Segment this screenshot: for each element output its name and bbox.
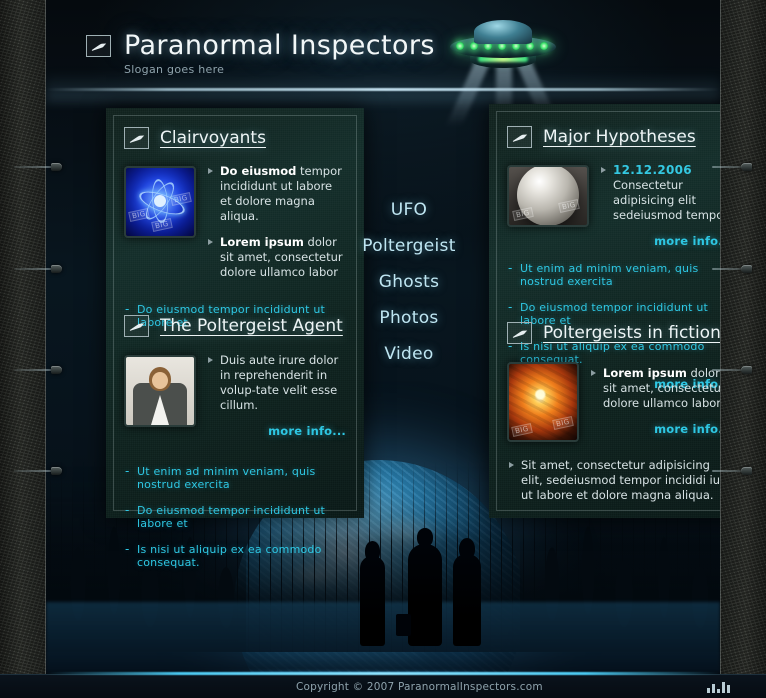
list-item: Lorem ipsum dolor sit amet, consectetur … bbox=[590, 366, 720, 411]
comet-icon bbox=[86, 35, 111, 57]
frame-bolt-left-2 bbox=[14, 265, 62, 273]
bullet-strong: Lorem ipsum bbox=[603, 366, 687, 380]
fire-explosion-thumbnail[interactable]: BIG BIG bbox=[507, 362, 579, 442]
section-heading-major-hypotheses[interactable]: Major Hypotheses bbox=[507, 126, 720, 148]
page-root: Paranormal Inspectors Slogan goes here bbox=[0, 0, 766, 698]
left-stone-frame bbox=[0, 0, 46, 698]
site-slogan: Slogan goes here bbox=[124, 63, 224, 76]
heading-text: Poltergeists in fiction bbox=[543, 323, 720, 343]
silhouette-woman-left bbox=[358, 541, 388, 646]
page-canvas: Paranormal Inspectors Slogan goes here bbox=[46, 0, 720, 698]
people-silhouettes bbox=[356, 521, 486, 646]
entry-text: Consectetur adipisicing elit sedeiusmod … bbox=[613, 178, 720, 222]
main-navigation: UFO Poltergeist Ghosts Photos Video bbox=[346, 200, 472, 364]
agent-dashlist: Ut enim ad minim veniam, quis nostrud ex… bbox=[124, 465, 346, 569]
comet-icon bbox=[507, 322, 532, 344]
list-item[interactable]: Ut enim ad minim veniam, quis nostrud ex… bbox=[124, 465, 346, 491]
right-frame-edge bbox=[720, 0, 721, 698]
hypotheses-bullets: 12.12.2006 Consectetur adipisicing elit … bbox=[600, 163, 720, 223]
blue-atom-thumbnail[interactable]: BIG BIG BIG bbox=[124, 166, 196, 238]
frame-bolt-right-3 bbox=[704, 366, 752, 374]
brand-lockup[interactable]: Paranormal Inspectors bbox=[86, 30, 435, 61]
hypotheses-row: BIG BIG 12.12.2006 Consectetur adipisici… bbox=[507, 165, 720, 248]
list-item: Duis aute irure dolor in reprehenderit i… bbox=[207, 353, 346, 413]
crystal-ball-thumbnail[interactable]: BIG BIG bbox=[507, 165, 589, 227]
fiction-row: BIG BIG Lorem ipsum dolor sit amet, cons… bbox=[507, 362, 720, 442]
section-heading-poltergeist-agent[interactable]: The Poltergeist Agent bbox=[124, 315, 346, 337]
nav-item-photos[interactable]: Photos bbox=[379, 308, 438, 328]
heading-text: Clairvoyants bbox=[160, 128, 266, 148]
section-heading-poltergeists-in-fiction[interactable]: Poltergeists in fiction bbox=[507, 322, 720, 344]
frame-bolt-right-2 bbox=[704, 265, 752, 273]
footer-glow-line bbox=[46, 672, 720, 675]
section-poltergeist-agent: The Poltergeist Agent Duis aute irure do… bbox=[124, 315, 346, 582]
signal-bars-icon bbox=[707, 681, 730, 693]
page-title: Paranormal Inspectors bbox=[124, 30, 435, 61]
list-item: 12.12.2006 Consectetur adipisicing elit … bbox=[600, 163, 720, 223]
agent-row: Duis aute irure dolor in reprehenderit i… bbox=[124, 355, 346, 438]
horizon-line bbox=[46, 88, 720, 91]
right-content-panel: Major Hypotheses BIG BIG 12.12.2006 Cons… bbox=[489, 104, 720, 518]
fiction-bullets: Lorem ipsum dolor sit amet, consectetur … bbox=[590, 366, 720, 411]
nav-item-ghosts[interactable]: Ghosts bbox=[379, 272, 440, 292]
section-heading-clairvoyants[interactable]: Clairvoyants bbox=[124, 127, 346, 149]
nav-item-ufo[interactable]: UFO bbox=[391, 200, 428, 220]
more-info-link[interactable]: more info... bbox=[600, 234, 720, 248]
man-portrait-thumbnail[interactable] bbox=[124, 355, 196, 427]
site-header: Paranormal Inspectors Slogan goes here bbox=[46, 14, 720, 84]
left-content-panel: Clairvoyants BIG BIG BIG Do eiusmod temp… bbox=[106, 108, 364, 518]
clairvoyants-bullets: Do eiusmod tempor incididunt ut labore e… bbox=[207, 164, 346, 291]
heading-text: Major Hypotheses bbox=[543, 127, 696, 147]
section-poltergeists-in-fiction: Poltergeists in fiction BIG BIG Lorem ip… bbox=[507, 322, 720, 503]
comet-icon bbox=[124, 315, 149, 337]
nav-item-poltergeist[interactable]: Poltergeist bbox=[362, 236, 455, 256]
frame-bolt-left-3 bbox=[14, 366, 62, 374]
comet-icon bbox=[124, 127, 149, 149]
more-info-link[interactable]: more info... bbox=[207, 424, 346, 438]
list-item: Sit amet, consectetur adipisicing elit, … bbox=[507, 458, 720, 503]
list-item: Do eiusmod tempor incididunt ut labore e… bbox=[207, 164, 346, 224]
list-item: Lorem ipsum dolor sit amet, consectetur … bbox=[207, 235, 346, 280]
bullet-strong: Do eiusmod bbox=[220, 164, 296, 178]
agent-bullets: Duis aute irure dolor in reprehenderit i… bbox=[207, 353, 346, 413]
frame-bolt-right-4 bbox=[704, 467, 752, 475]
list-item[interactable]: Ut enim ad minim veniam, quis nostrud ex… bbox=[507, 262, 720, 288]
site-footer: Copyright © 2007 ParanormalInspectors.co… bbox=[0, 674, 766, 698]
fiction-note: Sit amet, consectetur adipisicing elit, … bbox=[507, 458, 720, 503]
list-item[interactable]: Is nisi ut aliquip ex ea commodo consequ… bbox=[124, 543, 346, 569]
clairvoyants-row: BIG BIG BIG Do eiusmod tempor incididunt… bbox=[124, 166, 346, 291]
nav-item-video[interactable]: Video bbox=[384, 344, 433, 364]
comet-icon bbox=[507, 126, 532, 148]
list-item[interactable]: Do eiusmod tempor incididunt ut labore e… bbox=[124, 504, 346, 530]
silhouette-man-center bbox=[408, 528, 442, 646]
silhouette-woman-right bbox=[451, 538, 483, 646]
frame-bolt-right-1 bbox=[704, 163, 752, 171]
bullet-strong: Lorem ipsum bbox=[220, 235, 304, 249]
heading-text: The Poltergeist Agent bbox=[160, 316, 343, 336]
section-clairvoyants: Clairvoyants BIG BIG BIG Do eiusmod temp… bbox=[124, 127, 346, 342]
more-info-link[interactable]: more info... bbox=[590, 422, 720, 436]
frame-bolt-left-1 bbox=[14, 163, 62, 171]
frame-bolt-left-4 bbox=[14, 467, 62, 475]
copyright-text: Copyright © 2007 ParanormalInspectors.co… bbox=[296, 681, 543, 693]
right-stone-frame bbox=[720, 0, 766, 698]
entry-date: 12.12.2006 bbox=[613, 163, 692, 177]
